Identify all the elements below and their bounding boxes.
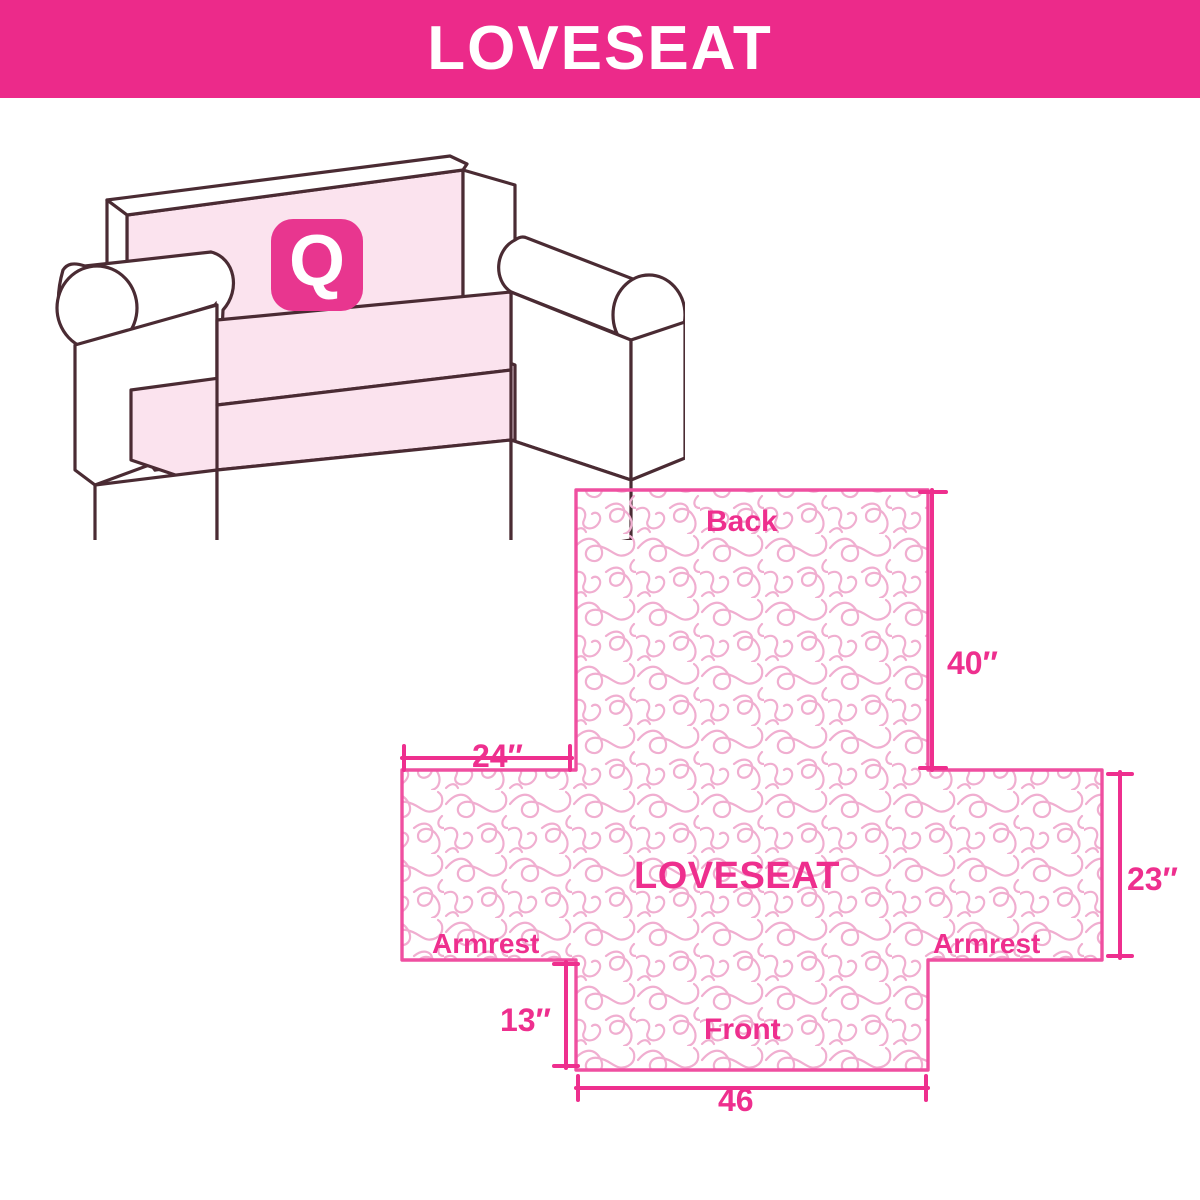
dim-label-front-skirt: 13″ [500,1002,551,1039]
header-bar: LOVESEAT [0,0,1200,98]
label-armrest-right: Armrest [933,928,1040,960]
dim-label-armrest-width: 24″ [472,738,523,775]
label-center-product: LOVESEAT [634,855,840,898]
page-title: LOVESEAT [427,18,773,80]
brand-logo-badge: Q [271,219,363,311]
dim-label-back-height: 40″ [947,645,998,682]
label-back-panel: Back [706,505,778,539]
label-front-panel: Front [704,1013,781,1047]
cover-pattern-fill [402,490,1102,1070]
page-root: LOVESEAT [0,0,1200,1200]
logo-letter: Q [289,225,345,297]
dim-label-front-width: 46 [718,1082,754,1119]
label-armrest-left: Armrest [432,928,539,960]
dim-label-seat-height: 23″ [1127,861,1178,898]
